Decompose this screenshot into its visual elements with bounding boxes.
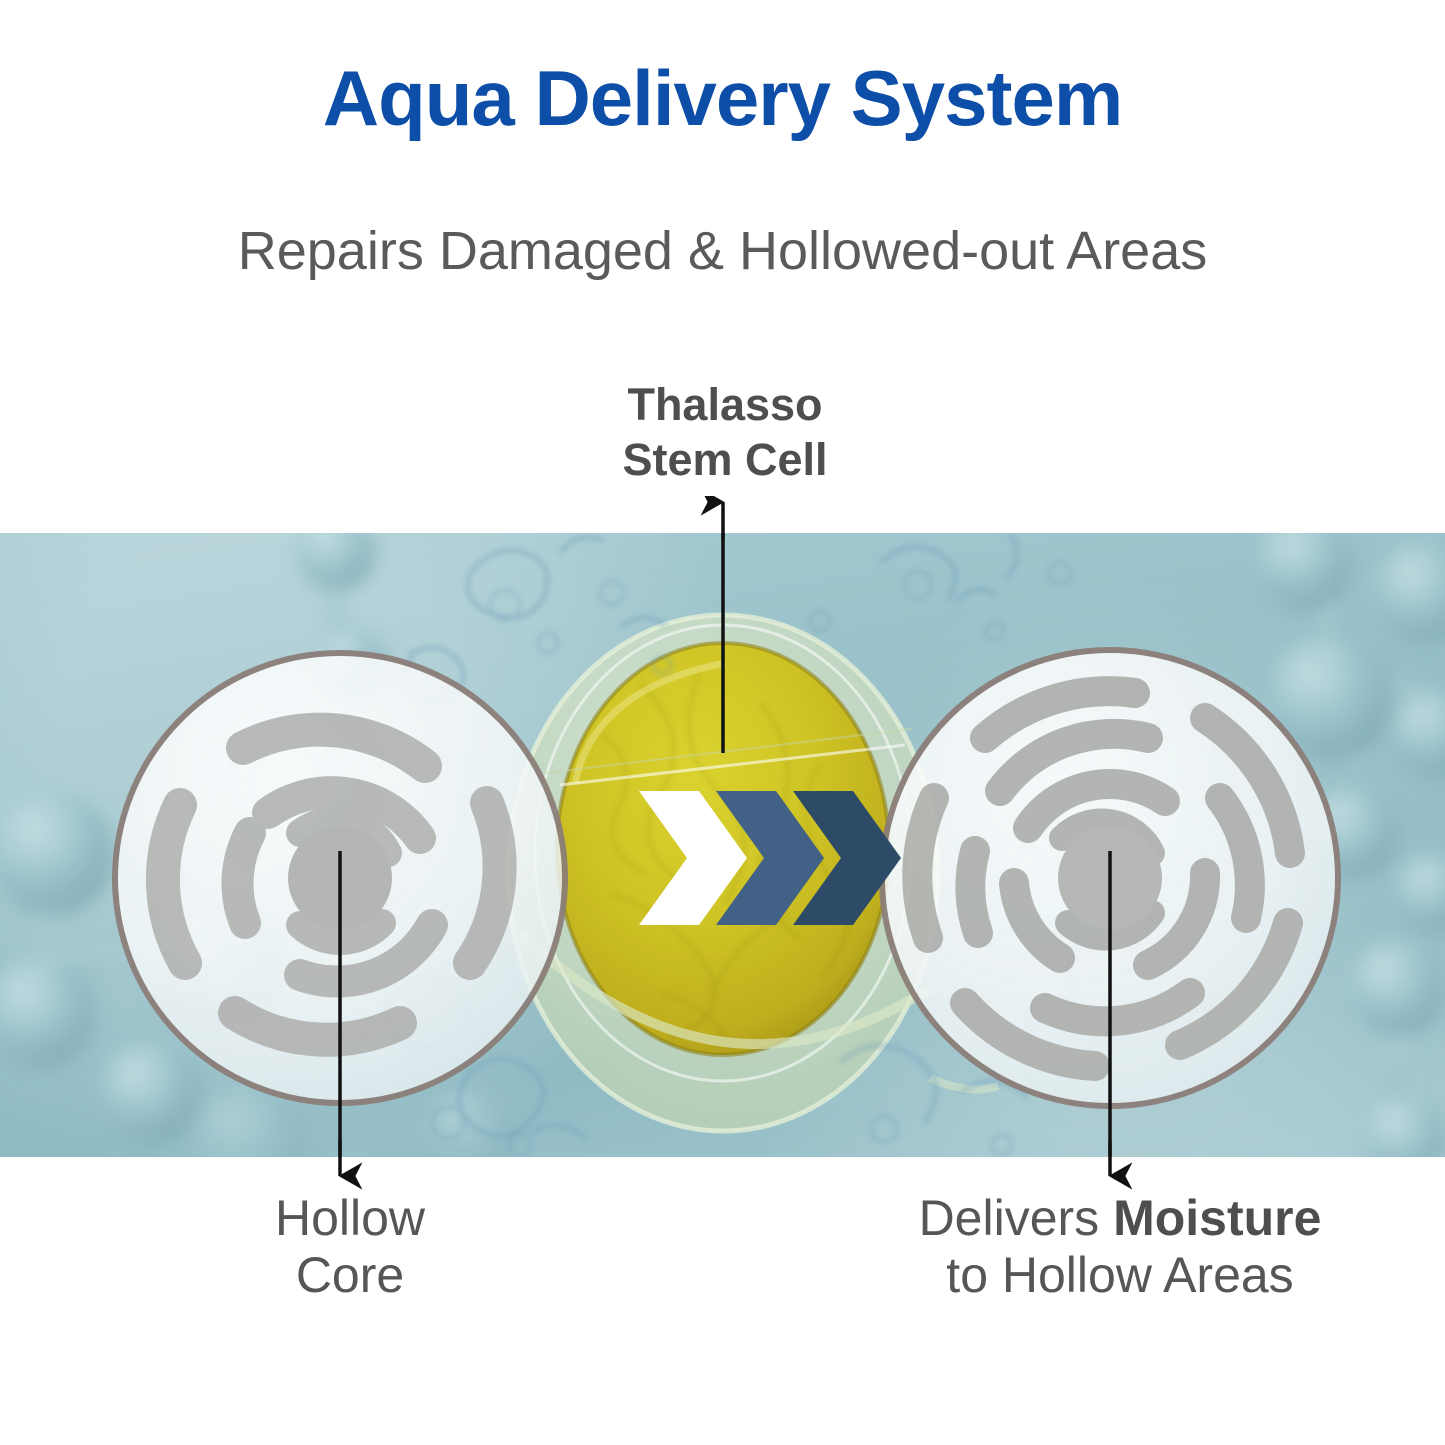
hollow-core-caption: Hollow Core xyxy=(140,1190,560,1304)
hollow-core-caption-line2: Core xyxy=(296,1247,404,1303)
diagram-image-band xyxy=(0,533,1445,1157)
moisture-caption-line2: to Hollow Areas xyxy=(946,1247,1293,1303)
diagram-artwork xyxy=(0,533,1445,1157)
moisture-caption-emphasis: Moisture xyxy=(1113,1190,1321,1246)
thalasso-label-line2: Stem Cell xyxy=(622,434,827,485)
page-title: Aqua Delivery System xyxy=(0,58,1445,140)
thalasso-stem-cell-label: Thalasso Stem Cell xyxy=(430,378,1020,488)
thalasso-label-line1: Thalasso xyxy=(627,379,822,430)
hollow-core-caption-line1: Hollow xyxy=(275,1190,425,1246)
moisture-caption: Delivers Moisture to Hollow Areas xyxy=(830,1190,1410,1304)
infographic-page: Aqua Delivery System Repairs Damaged & H… xyxy=(0,0,1445,1445)
moisture-caption-prefix: Delivers xyxy=(919,1190,1113,1246)
page-subtitle: Repairs Damaged & Hollowed-out Areas xyxy=(0,222,1445,281)
stemcell-arrow-overlay xyxy=(0,496,1445,541)
